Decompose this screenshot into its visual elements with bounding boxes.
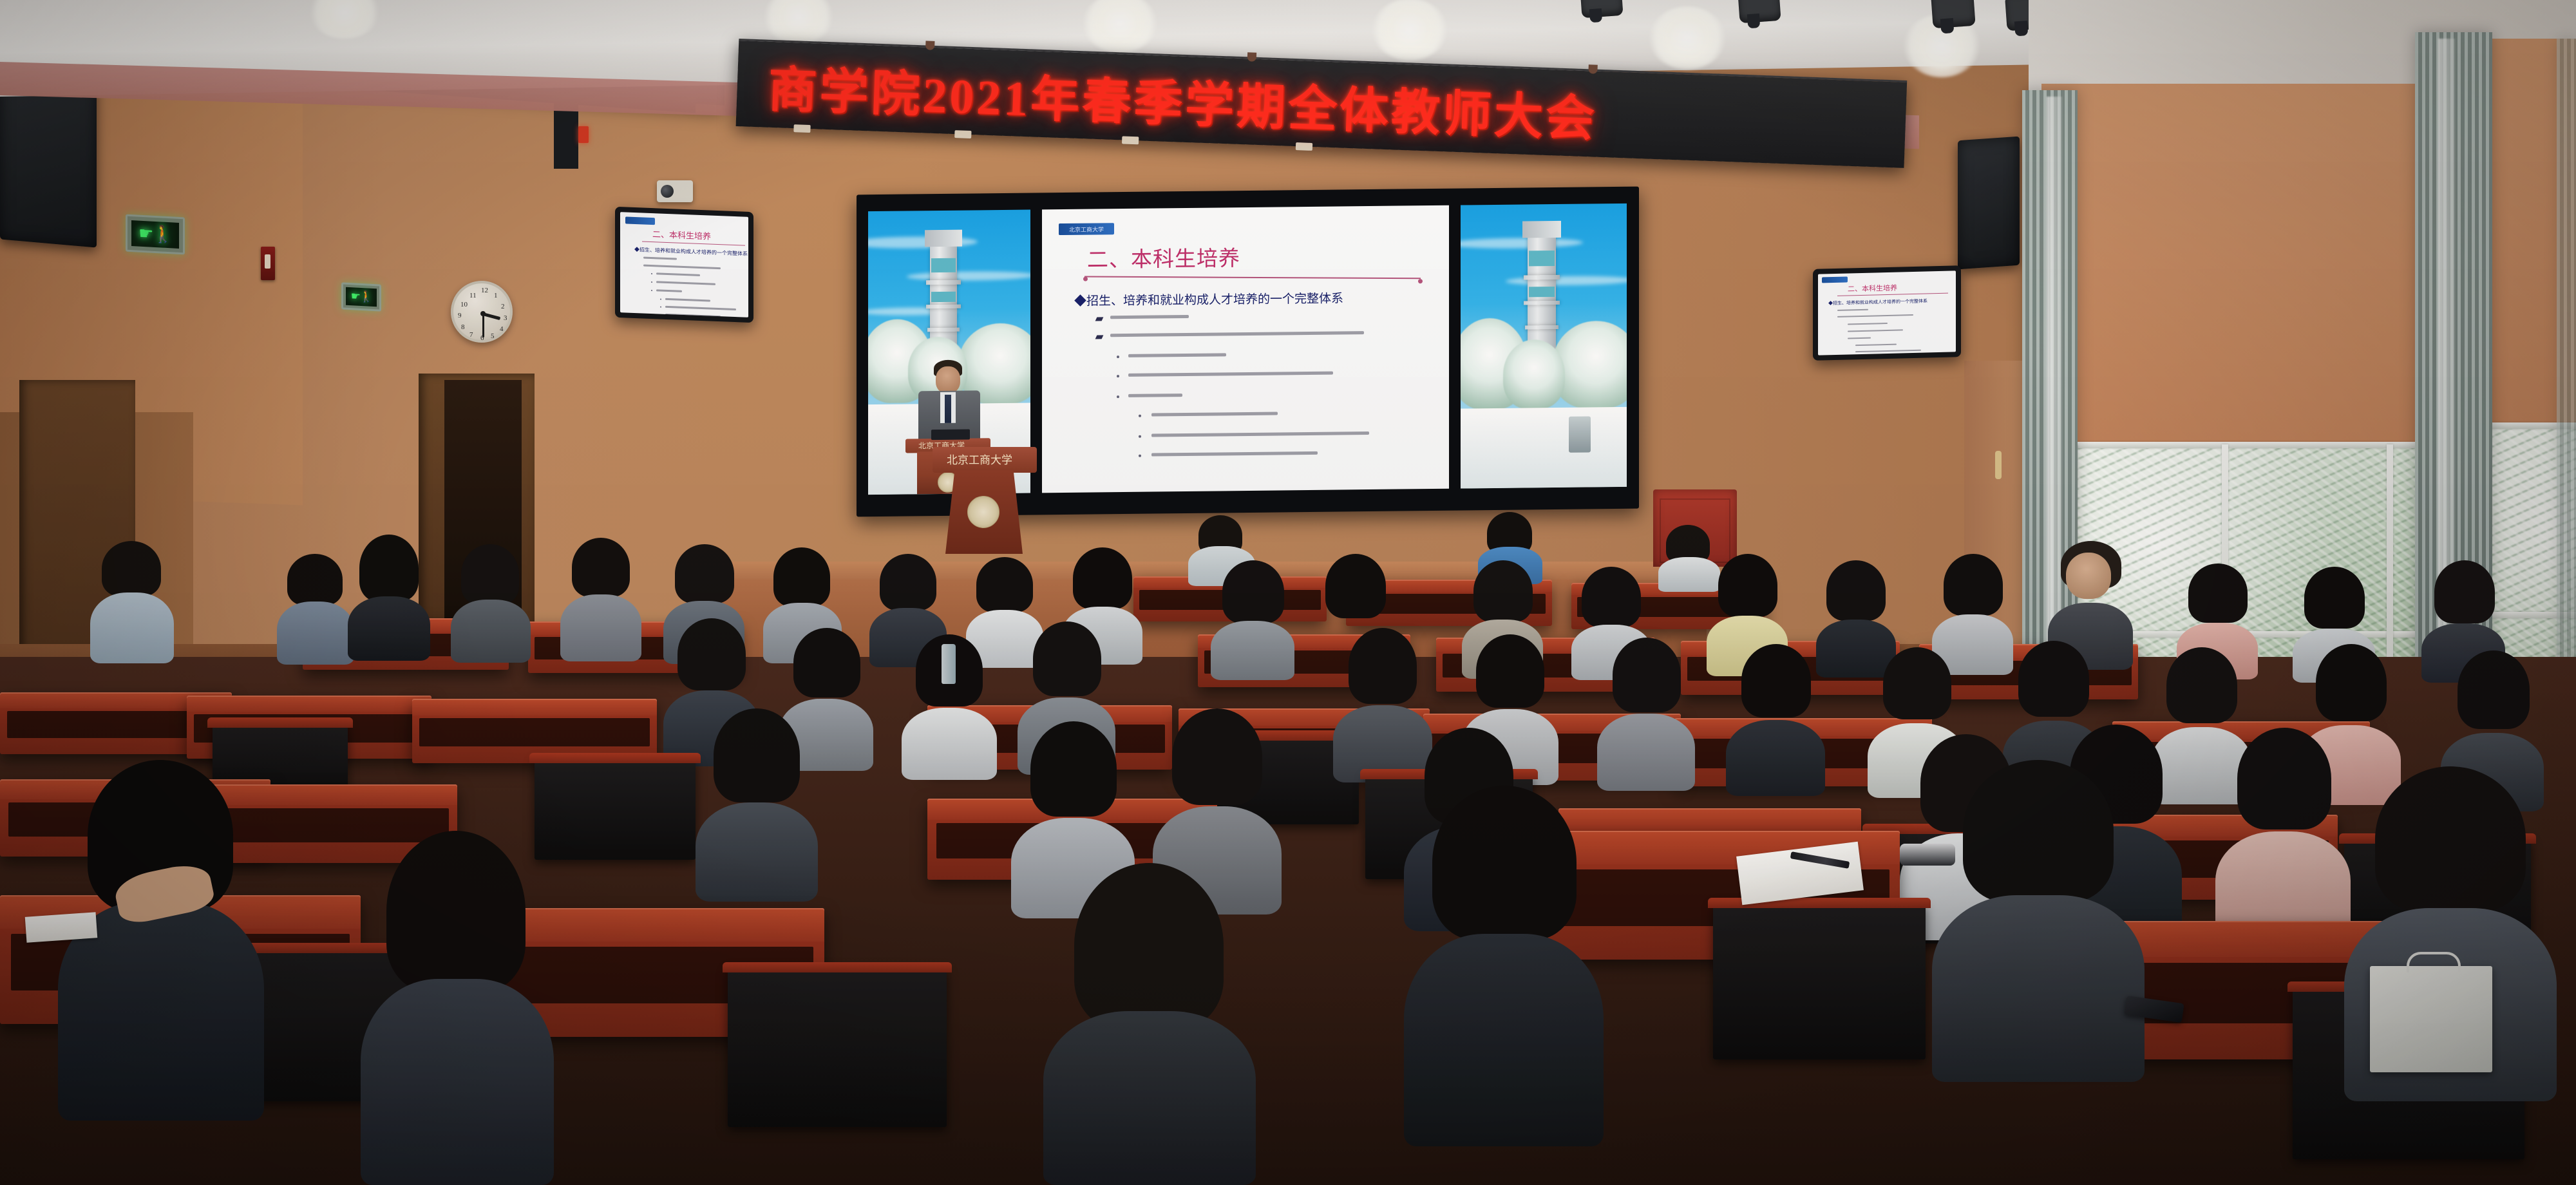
stage-track-light bbox=[1580, 0, 1623, 18]
door-handle[interactable] bbox=[1995, 451, 2002, 479]
fire-alarm-icon[interactable] bbox=[261, 247, 275, 280]
clock-numeral: 5 bbox=[491, 332, 495, 340]
slide-title: 二、本科生培养 bbox=[1848, 283, 1897, 294]
slide-photo-right bbox=[1461, 204, 1627, 489]
left-wall-monitor-screen: 二、本科生培养 ◆招生、培养和就业构成人才培养的一个完整体系 bbox=[620, 212, 748, 318]
slide-logo-icon: 北京工商大学 bbox=[1059, 223, 1114, 235]
document-sheet bbox=[25, 912, 98, 943]
slide-bullet-marker: ◆ bbox=[1074, 295, 1086, 308]
slide-content: 北京工商大学 二、本科生培养 ◆招生、培养和就业构成人才培养的一个完整体系 bbox=[1042, 205, 1449, 493]
stage-track-light bbox=[1738, 0, 1781, 23]
ceiling-speaker-right bbox=[1958, 137, 2020, 270]
right-wall-monitor: 二、本科生培养 ◆招生、培养和就业构成人才培养的一个完整体系 bbox=[1813, 265, 1961, 361]
clock-numeral: 8 bbox=[461, 323, 465, 331]
slide-bullet-text: 招生、培养和就业构成人才培养的一个完整体系 bbox=[639, 247, 748, 256]
sub-bullet-arrow bbox=[1095, 317, 1104, 321]
slide-bullet-text: 招生、培养和就业构成人才培养的一个完整体系 bbox=[1833, 298, 1927, 306]
clock-numeral: 10 bbox=[460, 301, 468, 308]
slide-bullet: ◆招生、培养和就业构成人才培养的一个完整体系 bbox=[1828, 298, 1927, 307]
slide-title: 二、本科生培养 bbox=[1087, 241, 1240, 273]
slide-bullet-marker: ◆ bbox=[634, 247, 639, 252]
audience-person bbox=[696, 708, 818, 902]
room-podium-label: 北京工商大学 bbox=[947, 451, 1012, 467]
handbag bbox=[2370, 966, 2492, 1072]
slide-title-rule bbox=[1084, 276, 1421, 280]
audience-person-foreground bbox=[1404, 786, 1604, 1146]
audience-person bbox=[1597, 638, 1695, 791]
audience-person bbox=[560, 538, 641, 661]
clock-center-pin bbox=[480, 311, 486, 316]
slide-logo-icon bbox=[625, 216, 655, 225]
slide-photo-building bbox=[1569, 416, 1591, 452]
slide-title: 二、本科生培养 bbox=[652, 227, 711, 242]
audience-person-foreground bbox=[58, 760, 264, 1121]
podium-laptop bbox=[931, 430, 970, 441]
window-upper-panel bbox=[2041, 84, 2428, 444]
audience-person-foreground bbox=[1932, 760, 2145, 1082]
audience-person-foreground bbox=[1043, 863, 1256, 1185]
clock-numeral: 11 bbox=[469, 292, 477, 299]
slide-logo-icon bbox=[1822, 276, 1848, 283]
glasses-case bbox=[1900, 844, 1955, 866]
audience-person bbox=[1211, 560, 1294, 680]
slide-rule bbox=[642, 241, 745, 245]
sub-bullet-arrow bbox=[1095, 335, 1104, 339]
clock-minute-hand bbox=[482, 314, 484, 337]
water-bottle bbox=[942, 644, 956, 684]
audience-person bbox=[90, 541, 174, 663]
clock-hour-hand bbox=[484, 313, 500, 321]
clock-numeral: 9 bbox=[458, 312, 462, 319]
slide-logo-text: 北京工商大学 bbox=[1069, 225, 1104, 234]
slide-bullet-marker: ◆ bbox=[1828, 301, 1833, 306]
room-camera bbox=[657, 180, 693, 202]
slide-bullet: ◆招生、培养和就业构成人才培养的一个完整体系 bbox=[1074, 289, 1343, 308]
recessed-downlight bbox=[1649, 6, 1726, 70]
lecture-chair bbox=[1713, 902, 1926, 1059]
stage-track-light bbox=[1931, 0, 1975, 28]
audience-person bbox=[451, 544, 531, 663]
exit-sign-glyph-2: ☛🚶 bbox=[346, 287, 377, 307]
clock-numeral: 2 bbox=[501, 303, 505, 310]
audience-person bbox=[277, 554, 354, 665]
exit-sign-icon: ☛🚶 bbox=[126, 214, 185, 255]
wall-clock: 12 1 2 3 4 5 6 7 8 9 10 11 bbox=[451, 281, 513, 343]
clock-numeral: 1 bbox=[494, 292, 498, 299]
lecture-chair bbox=[535, 757, 696, 860]
right-wall-monitor-screen: 二、本科生培养 ◆招生、培养和就业构成人才培养的一个完整体系 bbox=[1818, 270, 1956, 355]
clock-numeral: 12 bbox=[481, 287, 488, 294]
clock-numeral: 4 bbox=[500, 325, 504, 333]
audience-person bbox=[1726, 644, 1825, 796]
exit-sign-icon-2: ☛🚶 bbox=[341, 282, 381, 311]
audience-person bbox=[2215, 728, 2351, 943]
slide-bullet-text: 招生、培养和就业构成人才培养的一个完整体系 bbox=[1086, 292, 1343, 308]
audience-person bbox=[348, 535, 430, 661]
slide-bullet: ◆招生、培养和就业构成人才培养的一个完整体系 bbox=[634, 246, 748, 258]
room-podium-emblem bbox=[967, 496, 999, 528]
lecture-hall-scene: ☛🚶 ☛🚶 12 1 2 3 4 5 6 7 8 9 10 11 二、本科生培养 bbox=[0, 0, 2576, 1185]
exit-sign-glyph: ☛🚶 bbox=[131, 220, 179, 249]
lecture-chair bbox=[728, 966, 947, 1127]
projector-power-led bbox=[578, 126, 589, 143]
window-mullion bbox=[2040, 442, 2429, 448]
recessed-downlight bbox=[1372, 0, 1448, 61]
clock-numeral: 3 bbox=[504, 314, 507, 322]
left-wall-monitor: 二、本科生培养 ◆招生、培养和就业构成人才培养的一个完整体系 bbox=[615, 207, 753, 323]
audience-person-foreground bbox=[361, 831, 554, 1185]
clock-numeral: 7 bbox=[469, 331, 473, 339]
